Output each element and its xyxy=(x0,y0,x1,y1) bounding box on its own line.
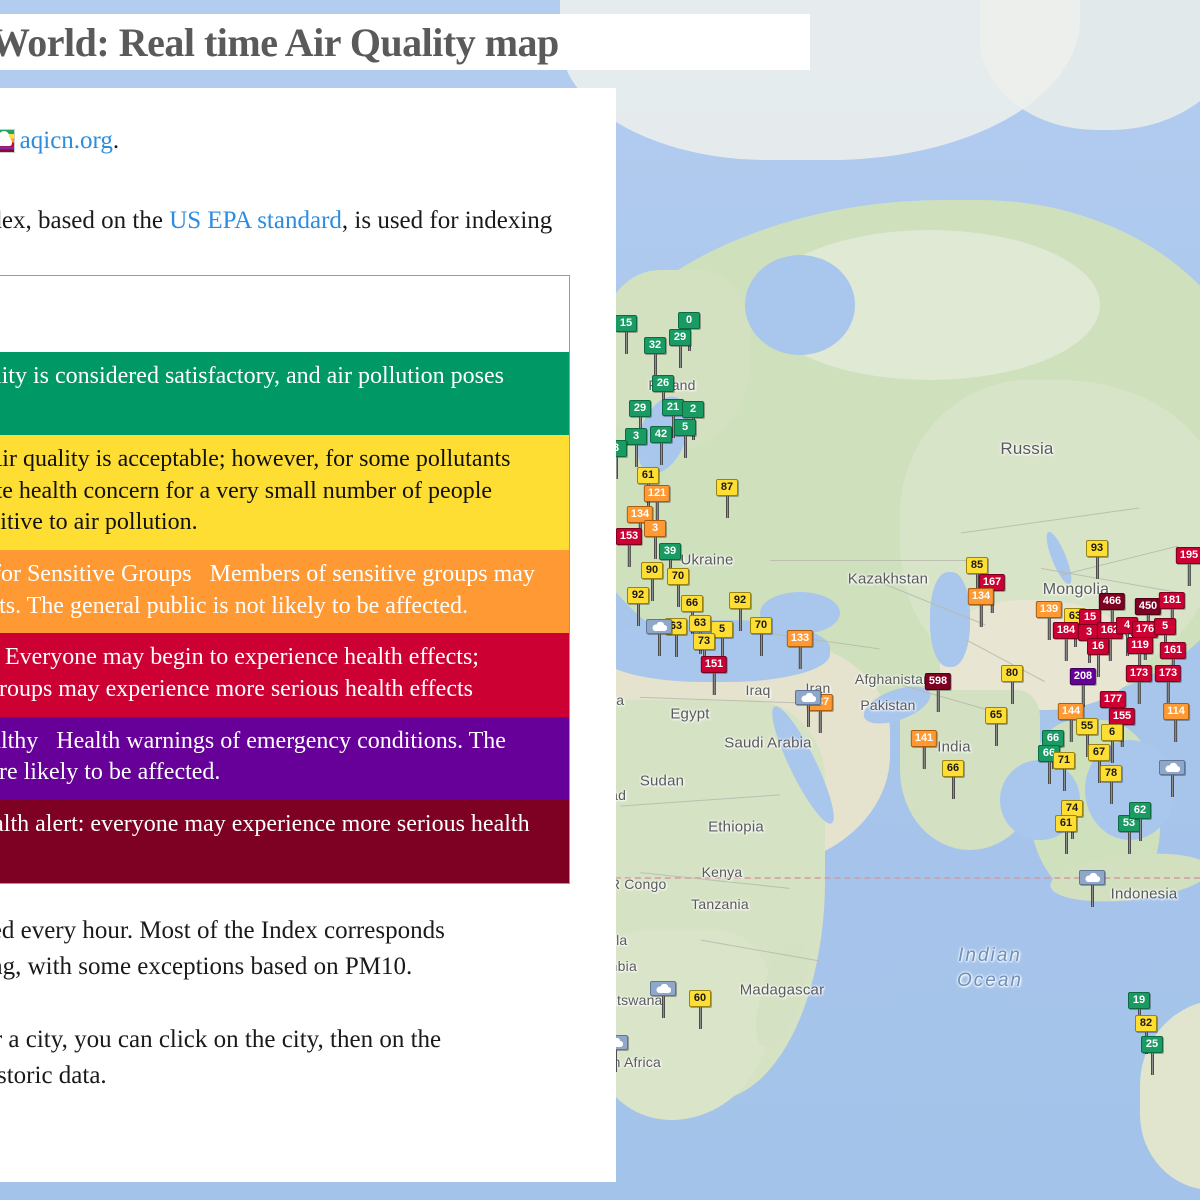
aqi-marker-value: 173 xyxy=(1126,665,1152,682)
aqi-marker-value: 70 xyxy=(750,617,772,634)
aqi-marker-post xyxy=(1011,682,1014,704)
aqi-marker-value: 92 xyxy=(627,587,649,604)
aqi-marker[interactable]: 62 xyxy=(1129,802,1151,841)
aqi-marker[interactable]: 42 xyxy=(650,426,672,465)
aqi-marker-value: 19 xyxy=(1128,992,1150,1009)
map-label-ukraine: Ukraine xyxy=(680,552,733,569)
map-label-indian: Indian xyxy=(958,945,1022,967)
aqi-marker-post xyxy=(995,724,998,746)
aqi-marker[interactable]: 5 xyxy=(674,419,696,458)
aqi-marker-value: 173 xyxy=(1155,665,1181,682)
aqi-marker-value: 61 xyxy=(1055,815,1077,832)
aqi-marker-value: 80 xyxy=(1001,665,1023,682)
aqi-marker-value: 93 xyxy=(1086,540,1108,557)
page-title-bar: World: Real time Air Quality map xyxy=(0,14,810,70)
aqi-marker[interactable]: 173 xyxy=(1126,665,1152,704)
aqi-marker-value: 73 xyxy=(693,633,715,650)
aqi-marker-post xyxy=(712,673,715,695)
map-label-iraq: Iraq xyxy=(746,682,771,698)
aqi-marker-post xyxy=(1064,639,1067,661)
aqi-marker-value: 134 xyxy=(968,588,994,605)
intro-standard-prefix: The Air Quality Index, based on the xyxy=(0,207,163,234)
legend-row-vunh: 201 - 300 Very Unhealthy Health warnings… xyxy=(0,717,570,800)
aqi-legend-table: AQI Air Pollution Level Health Implicati… xyxy=(0,275,570,884)
intro-standard-suffix: , is used for indexing xyxy=(342,207,552,234)
legend-row-content: 51 - 100 Moderate Air quality is accepta… xyxy=(0,435,570,550)
aqi-marker-value: 63 xyxy=(689,615,711,632)
legend-row-content: 101 - 150 Unhealthy for Sensitive Groups… xyxy=(0,550,570,633)
aqi-marker[interactable]: 15 xyxy=(615,315,637,354)
aqi-marker-value: 184 xyxy=(1053,622,1079,639)
aqi-marker[interactable]: 93 xyxy=(1086,540,1108,579)
aqi-marker-value: 6 xyxy=(1101,724,1123,741)
legend-row-content: 0 - 50 Good Air quality is considered sa… xyxy=(0,352,570,435)
aqi-marker[interactable]: 184 xyxy=(1053,622,1079,661)
aqi-marker-value: 133 xyxy=(787,630,813,647)
aqi-marker-value: 21 xyxy=(662,399,684,416)
aqi-marker-post xyxy=(1097,655,1100,677)
aqi-marker-value: 208 xyxy=(1070,668,1096,685)
caspian-sea xyxy=(930,572,970,667)
aqi-marker[interactable]: 141 xyxy=(911,730,937,769)
intro-credit-line: Brought to you byaqicn.org. xyxy=(0,124,384,158)
aqi-marker-value: 181 xyxy=(1159,592,1185,609)
legend-description: 300+ Hazardous Health alert: everyone ma… xyxy=(0,809,537,872)
aqi-marker-value: 71 xyxy=(1053,752,1075,769)
aqi-marker-post xyxy=(798,647,801,669)
equator-line xyxy=(575,877,1200,879)
legend-row-unh: 151 - 200 Unhealthy Everyone may begin t… xyxy=(0,633,570,716)
legend-row-mod: 51 - 100 Moderate Air quality is accepta… xyxy=(0,435,570,550)
aqi-marker-value: 466 xyxy=(1099,593,1125,610)
aqi-marker[interactable]: 3 xyxy=(625,428,647,467)
map-label-ethiopia: Ethiopia xyxy=(708,819,764,836)
aqi-marker-post xyxy=(952,777,955,799)
aqi-marker-post xyxy=(654,354,657,376)
aqi-marker[interactable]: 80 xyxy=(1001,665,1023,704)
legend-description: 151 - 200 Unhealthy Everyone may begin t… xyxy=(0,642,537,705)
aqi-marker-post xyxy=(654,537,657,559)
aqi-marker-post xyxy=(1175,720,1178,742)
aqi-marker-value: 5 xyxy=(674,419,696,436)
aqi-marker-value: 85 xyxy=(966,557,988,574)
aqi-marker-value: 15 xyxy=(615,315,637,332)
aqi-marker-value: 151 xyxy=(701,656,727,673)
aqi-marker-post xyxy=(1111,741,1114,763)
legend-row-usg: 101 - 150 Unhealthy for Sensitive Groups… xyxy=(0,550,570,633)
aqi-marker-post xyxy=(1065,832,1068,854)
aqi-marker[interactable]: 32 xyxy=(644,337,666,376)
aqi-marker-post xyxy=(1047,618,1050,640)
cloud-marker-post xyxy=(1171,775,1174,797)
detail-note-line2: chart to view the historic data. xyxy=(0,1059,384,1093)
aqi-marker-post xyxy=(1110,782,1113,804)
cloud-marker-post xyxy=(1091,885,1094,907)
aqi-marker[interactable]: 70 xyxy=(750,617,772,656)
aqi-marker[interactable]: 25 xyxy=(1141,1036,1163,1075)
aqi-marker-value: 0 xyxy=(678,312,700,329)
legend-header-row: AQI Air Pollution Level Health Implicati… xyxy=(0,276,570,352)
detail-note-line1: To see the detail for a city, you can cl… xyxy=(0,1023,384,1057)
legend-row-good: 0 - 50 Good Air quality is considered sa… xyxy=(0,352,570,435)
map-label-saudi-arabia: Saudi Arabia xyxy=(724,735,811,752)
aqi-marker-post xyxy=(760,634,763,656)
aqi-marker-value: 114 xyxy=(1163,703,1189,720)
aqi-marker[interactable]: 29 xyxy=(669,329,691,368)
legend-row-content: 151 - 200 Unhealthy Everyone may begin t… xyxy=(0,633,570,716)
aqi-marker-value: 3 xyxy=(625,428,647,445)
map-label-ocean: Ocean xyxy=(957,970,1023,992)
aqi-marker[interactable]: 173 xyxy=(1155,665,1181,704)
aqi-marker[interactable]: 153 xyxy=(616,528,642,567)
aqi-marker[interactable]: 60 xyxy=(689,990,711,1029)
aqi-marker[interactable]: 208 xyxy=(1070,668,1096,707)
weather-cloud-marker[interactable] xyxy=(1159,760,1185,797)
map-label-sudan: Sudan xyxy=(640,773,684,790)
aqi-marker-value: 29 xyxy=(669,329,691,346)
legend-description: 101 - 150 Unhealthy for Sensitive Groups… xyxy=(0,559,537,622)
aqi-marker-value: 65 xyxy=(985,707,1007,724)
legend-description: 201 - 300 Very Unhealthy Health warnings… xyxy=(0,726,537,789)
aqi-marker-value: 87 xyxy=(716,479,738,496)
cloud-icon xyxy=(646,619,672,634)
cloud-marker-post xyxy=(658,634,661,656)
aqi-marker-post xyxy=(922,747,925,769)
page-title: World: Real time Air Quality map xyxy=(0,19,559,66)
weather-cloud-marker[interactable] xyxy=(650,981,676,1018)
map-label-india: India xyxy=(937,739,971,756)
legend-row-content: 300+ Hazardous Health alert: everyone ma… xyxy=(0,800,570,884)
map-label-kenya: Kenya xyxy=(702,864,743,880)
aqi-marker-value: 92 xyxy=(729,592,751,609)
map-label-indonesia: Indonesia xyxy=(1111,886,1178,903)
aqi-marker[interactable]: 78 xyxy=(1100,765,1122,804)
aqi-marker-value: 62 xyxy=(1129,802,1151,819)
aqi-marker-post xyxy=(726,496,729,518)
aqi-marker-post xyxy=(637,604,640,626)
legend-description: 51 - 100 Moderate Air quality is accepta… xyxy=(0,444,537,539)
aqi-marker-value: 78 xyxy=(1100,765,1122,782)
aqi-marker-value: 32 xyxy=(644,337,666,354)
aqi-marker-value: 55 xyxy=(1076,718,1098,735)
aqi-marker-value: 39 xyxy=(659,543,681,560)
aqi-marker-value: 153 xyxy=(616,528,642,545)
cloud-icon xyxy=(1159,760,1185,775)
aqi-marker-value: 42 xyxy=(650,426,672,443)
aqi-marker-post xyxy=(1069,720,1072,742)
aqi-marker-post xyxy=(684,436,687,458)
weather-cloud-marker[interactable] xyxy=(795,690,821,727)
aqi-marker-value: 450 xyxy=(1135,598,1161,615)
black-sea xyxy=(760,592,840,634)
cloud-marker-post xyxy=(807,705,810,727)
aqi-marker-value: 25 xyxy=(1141,1036,1163,1053)
aqi-marker-value: 598 xyxy=(925,673,951,690)
aqi-marker-value: 177 xyxy=(1100,691,1126,708)
info-panel: Brought to you byaqicn.org. The Air Qual… xyxy=(0,88,616,1182)
aqi-marker-post xyxy=(936,690,939,712)
aqi-marker-post xyxy=(675,635,678,657)
aqi-marker[interactable]: 134 xyxy=(968,588,994,627)
aqi-marker-post xyxy=(1137,682,1140,704)
map-label-pakistan: Pakistan xyxy=(860,697,915,713)
aqi-marker-post xyxy=(1151,1053,1154,1075)
aqi-marker-value: 60 xyxy=(689,990,711,1007)
aqi-marker-value: 141 xyxy=(911,730,937,747)
aqi-marker-value: 67 xyxy=(1088,744,1110,761)
aqi-marker-value: 119 xyxy=(1127,637,1153,654)
aqi-marker-value: 66 xyxy=(681,595,703,612)
aqi-marker-post xyxy=(1166,682,1169,704)
map-label-tanzania: Tanzania xyxy=(691,896,749,912)
aqi-marker-post xyxy=(635,445,638,467)
map-label-kazakhstan: Kazakhstan xyxy=(848,571,928,588)
aqi-marker-value: 61 xyxy=(637,467,659,484)
aqi-marker-value: 2 xyxy=(682,401,704,418)
map-label-afghanistan: Afghanistan xyxy=(855,671,931,687)
intro-standard-line: The Air Quality Index, based on the US E… xyxy=(0,204,384,238)
aqi-marker-value: 66 xyxy=(942,760,964,777)
aqi-marker-post xyxy=(1187,564,1190,586)
aqi-marker-post xyxy=(627,545,630,567)
aqi-marker-post xyxy=(1063,769,1066,791)
aqi-marker[interactable]: 71 xyxy=(1053,752,1075,791)
footer-notes: The Index is updated every hour. Most of… xyxy=(0,914,580,1092)
aqi-marker-value: 3 xyxy=(644,520,666,537)
map-label-egypt: Egypt xyxy=(670,706,709,723)
legend-row-content: 201 - 300 Very Unhealthy Health warnings… xyxy=(0,717,570,800)
aqi-marker-value: 82 xyxy=(1135,1015,1157,1032)
aqi-marker[interactable]: 87 xyxy=(716,479,738,518)
aqi-marker-value: 195 xyxy=(1176,547,1200,564)
air-quality-map-page: RussiaFinlandKazakhstanMongoliaUkraineCh… xyxy=(0,0,1200,1200)
aqicn-link[interactable]: aqicn.org xyxy=(20,127,113,154)
aqi-marker-post xyxy=(651,579,654,601)
aqi-marker[interactable]: 598 xyxy=(925,673,951,712)
map-border-line xyxy=(770,560,970,561)
aqi-marker-value: 121 xyxy=(644,485,670,502)
white-sea xyxy=(745,255,855,355)
update-note-line1: The Index is updated every hour. Most of… xyxy=(0,914,384,948)
aqi-marker-value: 155 xyxy=(1109,708,1135,725)
legend-description: 0 - 50 Good Air quality is considered sa… xyxy=(0,361,537,424)
aqi-marker[interactable]: 195 xyxy=(1176,547,1200,586)
aqi-marker-post xyxy=(1048,762,1051,784)
aqi-marker-post xyxy=(1096,557,1099,579)
map-label-madagascar: Madagascar xyxy=(740,982,825,999)
aqi-marker-value: 5 xyxy=(1154,618,1176,635)
aqi-marker-value: 90 xyxy=(641,562,663,579)
aqi-marker-post xyxy=(739,609,742,631)
aqi-marker-post xyxy=(979,605,982,627)
aqi-marker-post xyxy=(1139,819,1142,841)
aqicn-logo-icon xyxy=(0,129,15,153)
aqi-marker-post xyxy=(625,332,628,354)
aqi-marker-post xyxy=(679,346,682,368)
aqi-marker-post xyxy=(677,585,680,607)
cloud-marker-post xyxy=(662,996,665,1018)
aqi-marker[interactable]: 151 xyxy=(701,656,727,695)
update-note-line2: to the PM2.5 reading, with some exceptio… xyxy=(0,950,384,984)
cloud-icon xyxy=(650,981,676,996)
intro-credit-suffix: . xyxy=(113,127,119,154)
aqi-marker-value: 29 xyxy=(629,400,651,417)
weather-cloud-marker[interactable] xyxy=(646,619,672,656)
cloud-icon xyxy=(1079,870,1105,885)
aqi-marker-value: 16 xyxy=(1087,638,1109,655)
aqi-marker-value: 139 xyxy=(1036,601,1062,618)
us-epa-standard-link[interactable]: US EPA standard xyxy=(169,207,342,234)
aqi-marker[interactable]: 133 xyxy=(787,630,813,669)
cloud-icon xyxy=(795,690,821,705)
weather-cloud-marker[interactable] xyxy=(1079,870,1105,907)
aqi-marker-value: 70 xyxy=(667,568,689,585)
aqi-marker[interactable]: 65 xyxy=(985,707,1007,746)
aqi-marker[interactable]: 61 xyxy=(1055,815,1077,854)
map-label-russia: Russia xyxy=(1000,439,1053,459)
aqi-marker-post xyxy=(699,1007,702,1029)
aqi-marker[interactable]: 66 xyxy=(942,760,964,799)
aqi-marker-post xyxy=(660,443,663,465)
legend-row-haz: 300+ Hazardous Health alert: everyone ma… xyxy=(0,800,570,884)
aqi-marker[interactable]: 114 xyxy=(1163,703,1189,742)
aqi-marker-value: 161 xyxy=(1160,642,1186,659)
aqi-marker-value: 26 xyxy=(652,375,674,392)
